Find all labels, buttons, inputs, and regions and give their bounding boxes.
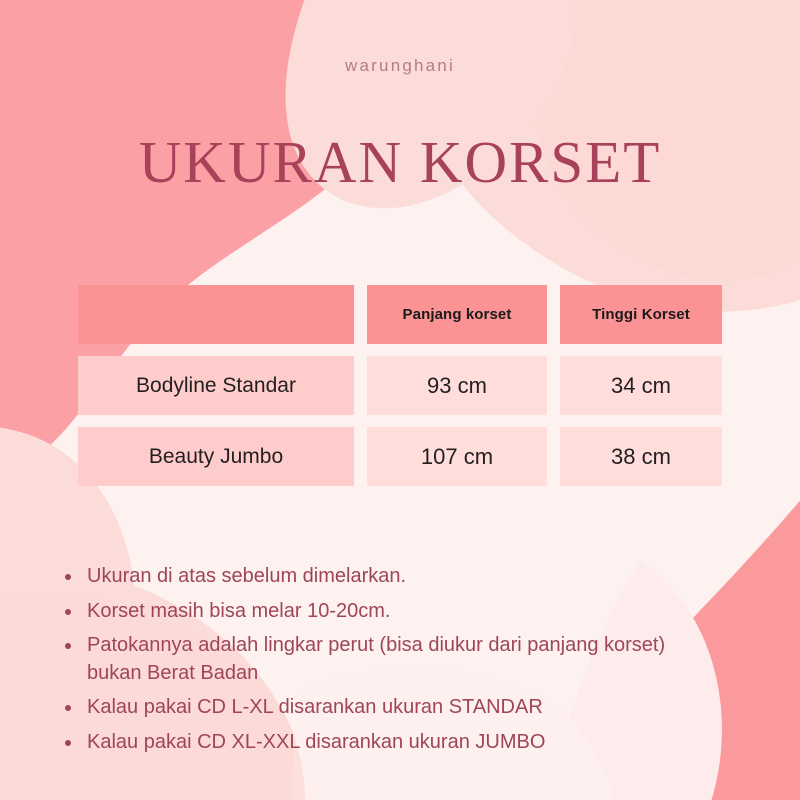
page-title: UKURAN KORSET (0, 132, 800, 194)
table-row: Bodyline Standar 93 cm 34 cm (78, 356, 722, 415)
table-cell-tinggi: 38 cm (560, 427, 722, 486)
list-item-label: Korset masih bisa melar 10-20cm. (87, 600, 390, 622)
bullet-icon (65, 643, 71, 649)
table-cell-panjang: 107 cm (367, 427, 547, 486)
brand-name: warunghani (0, 56, 800, 76)
size-table: Panjang korset Tinggi Korset Bodyline St… (78, 285, 722, 486)
table-header-row: Panjang korset Tinggi Korset (78, 285, 722, 344)
table-cell-model: Bodyline Standar (78, 356, 354, 415)
list-item-label: Kalau pakai CD L-XL disarankan ukuran ST… (87, 696, 543, 718)
list-item: Kalau pakai CD L-XL disarankan ukuran ST… (60, 694, 760, 722)
table-row: Beauty Jumbo 107 cm 38 cm (78, 427, 722, 486)
table-header-cell-tinggi: Tinggi Korset (560, 285, 722, 344)
list-item-label: Ukuran di atas sebelum dimelarkan. (87, 565, 406, 587)
table-cell-panjang: 93 cm (367, 356, 547, 415)
notes-list: Ukuran di atas sebelum dimelarkan. Korse… (60, 563, 760, 764)
list-item-label-continued: bukan Berat Badan (87, 660, 760, 688)
infographic-canvas: warunghani UKURAN KORSET Panjang korset … (0, 0, 800, 800)
table-header-cell-panjang: Panjang korset (367, 285, 547, 344)
list-item: Korset masih bisa melar 10-20cm. (60, 598, 760, 626)
bullet-icon (65, 574, 71, 580)
bullet-icon (65, 609, 71, 615)
list-item-label: Patokannya adalah lingkar perut (bisa di… (87, 634, 665, 656)
bullet-icon (65, 705, 71, 711)
list-item-label: Kalau pakai CD XL-XXL disarankan ukuran … (87, 731, 545, 753)
table-cell-model: Beauty Jumbo (78, 427, 354, 486)
table-cell-tinggi: 34 cm (560, 356, 722, 415)
table-header-cell-blank (78, 285, 354, 344)
list-item: Patokannya adalah lingkar perut (bisa di… (60, 632, 760, 687)
bullet-icon (65, 740, 71, 746)
list-item: Ukuran di atas sebelum dimelarkan. (60, 563, 760, 591)
list-item: Kalau pakai CD XL-XXL disarankan ukuran … (60, 729, 760, 757)
